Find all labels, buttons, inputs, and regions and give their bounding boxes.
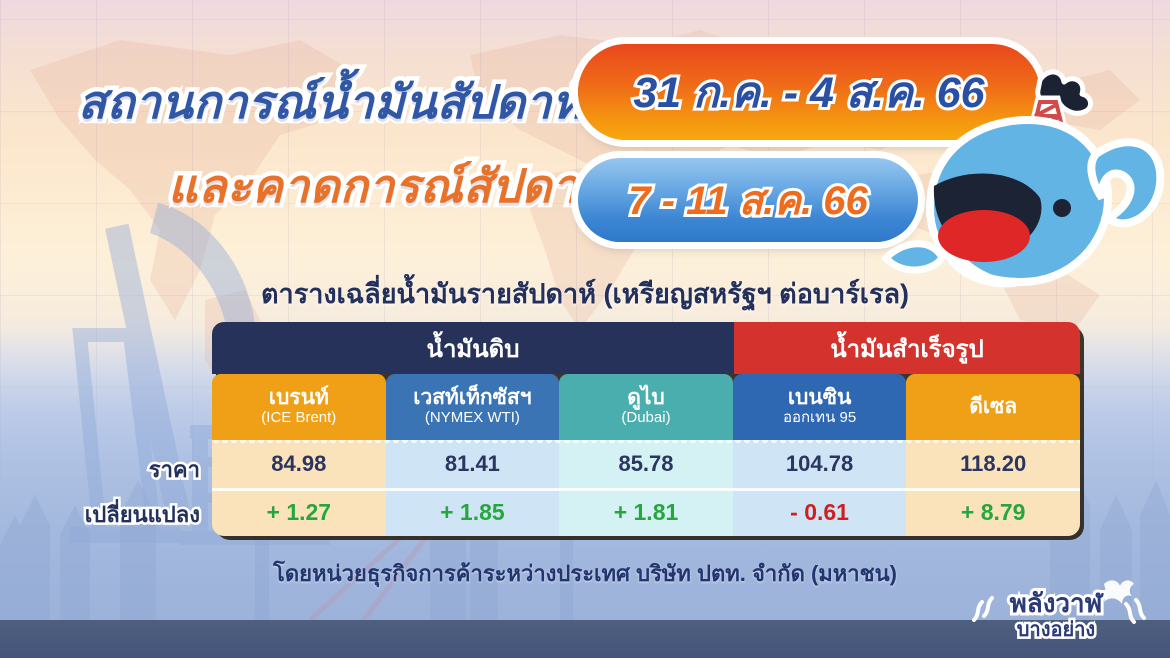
svg-text:บางอย่าง: บางอย่าง — [1017, 619, 1095, 641]
column-header-brent-sub: (ICE Brent) — [261, 409, 336, 427]
group-header-crude: น้ำมันดิบ — [212, 322, 734, 374]
headline-line-2: และคาดการณ์สัปดาห์ — [168, 150, 609, 223]
column-header-dubai-sub: (Dubai) — [621, 409, 670, 427]
date-badge-forecast-week: 7 - 11 ส.ค. 66 — [578, 158, 918, 242]
column-header-brent-main: เบรนท์ — [269, 387, 329, 409]
svg-text:พลังวาฬ: พลังวาฬ — [1010, 588, 1104, 618]
change-wti: + 1.85 — [386, 488, 560, 536]
table-group-header-row: น้ำมันดิบ น้ำมันสำเร็จรูป — [212, 322, 1080, 374]
column-header-diesel: ดีเซล — [906, 374, 1080, 440]
column-header-wti: เวสท์เท็กซัสฯ (NYMEX WTI) — [386, 374, 560, 440]
column-header-gasoline: เบนซิน ออกเทน 95 — [733, 374, 907, 440]
change-brent: + 1.27 — [212, 488, 386, 536]
oil-price-table: น้ำมันดิบ น้ำมันสำเร็จรูป เบรนท์ (ICE Br… — [212, 322, 1080, 536]
row-separator — [212, 488, 1080, 491]
column-header-brent: เบรนท์ (ICE Brent) — [212, 374, 386, 440]
change-dubai: + 1.81 — [559, 488, 733, 536]
change-diesel: + 8.79 — [906, 488, 1080, 536]
row-label-price: ราคา — [149, 452, 200, 487]
price-brent: 84.98 — [212, 440, 386, 488]
headline-line-1: สถานการณ์น้ำมันสัปดาห์ — [78, 66, 583, 139]
table-price-row: 84.98 81.41 85.78 104.78 118.20 — [212, 440, 1080, 488]
price-dubai: 85.78 — [559, 440, 733, 488]
price-wti: 81.41 — [386, 440, 560, 488]
price-gasoline: 104.78 — [733, 440, 907, 488]
column-header-dubai-main: ดูไบ — [627, 387, 665, 409]
column-header-gasoline-sub: ออกเทน 95 — [783, 409, 856, 427]
infographic-canvas: สถานการณ์น้ำมันสัปดาห์ และคาดการณ์สัปดาห… — [0, 0, 1170, 658]
column-header-gasoline-main: เบนซิน — [788, 387, 851, 409]
group-header-refined: น้ำมันสำเร็จรูป — [734, 322, 1080, 374]
column-header-wti-main: เวสท์เท็กซัสฯ — [413, 387, 531, 409]
table-change-row: + 1.27 + 1.85 + 1.81 - 0.61 + 8.79 — [212, 488, 1080, 536]
column-header-wti-sub: (NYMEX WTI) — [425, 409, 520, 427]
change-gasoline: - 0.61 — [733, 488, 907, 536]
table-column-header-row: เบรนท์ (ICE Brent) เวสท์เท็กซัสฯ (NYMEX … — [212, 374, 1080, 440]
scalloped-divider — [212, 440, 1080, 446]
column-header-diesel-main: ดีเซล — [969, 396, 1017, 418]
row-label-change: เปลี่ยนแปลง — [85, 497, 200, 532]
price-diesel: 118.20 — [906, 440, 1080, 488]
table-caption: ตารางเฉลี่ยน้ำมันรายสัปดาห์ (เหรียญสหรัฐ… — [0, 272, 1170, 315]
brand-logo: พลังวาฬ บางอย่าง — [958, 578, 1154, 644]
column-header-dubai: ดูไบ (Dubai) — [559, 374, 733, 440]
